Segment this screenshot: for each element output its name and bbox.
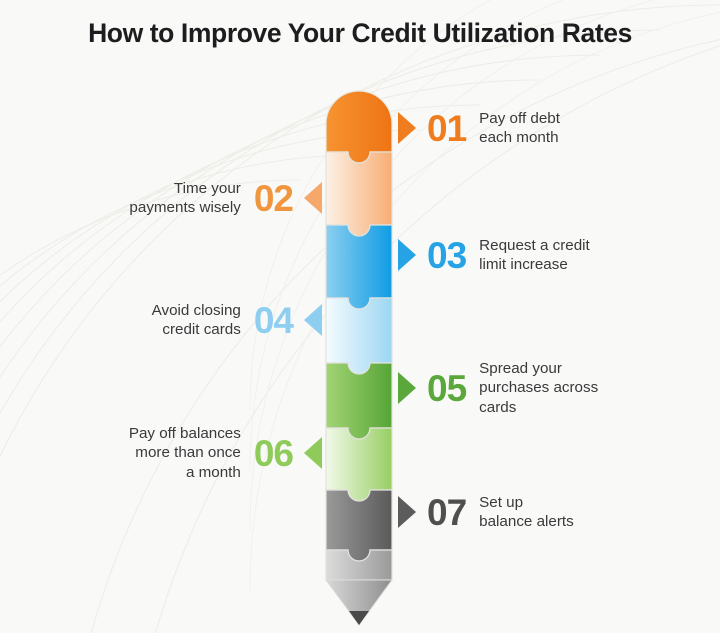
step-text-05: Spread your purchases across cards [479, 359, 598, 417]
arrow-right-icon [396, 108, 418, 148]
step-number-05: 05 [427, 370, 466, 407]
pencil-tip [326, 580, 392, 625]
page-title: How to Improve Your Credit Utilization R… [0, 18, 720, 49]
step-row-05: 05 Spread your purchases across cards [396, 359, 598, 417]
pencil-column [322, 88, 396, 628]
step-row-07: 07 Set up balance alerts [396, 492, 574, 532]
arrow-left-icon [302, 433, 324, 473]
step-text-07: Set up balance alerts [479, 493, 574, 532]
step-number-01: 01 [427, 110, 466, 147]
arrow-left-icon [302, 300, 324, 340]
step-row-01: 01 Pay off debt each month [396, 108, 560, 148]
step-number-03: 03 [427, 237, 466, 274]
step-number-02: 02 [254, 180, 293, 217]
pencil-segment-02 [326, 152, 392, 236]
step-number-06: 06 [254, 435, 293, 472]
step-row-02: 02 Time your payments wisely [129, 178, 324, 218]
step-text-06: Pay off balances more than once a month [129, 424, 241, 482]
step-text-03: Request a credit limit increase [479, 236, 590, 275]
step-row-03: 03 Request a credit limit increase [396, 235, 590, 275]
arrow-left-icon [302, 178, 324, 218]
step-text-01: Pay off debt each month [479, 109, 560, 148]
step-row-06: 06 Pay off balances more than once a mon… [129, 424, 324, 482]
step-number-07: 07 [427, 494, 466, 531]
step-row-04: 04 Avoid closing credit cards [152, 300, 324, 340]
arrow-right-icon [396, 235, 418, 275]
step-text-04: Avoid closing credit cards [152, 301, 241, 340]
step-text-02: Time your payments wisely [129, 179, 240, 218]
pencil-segment-03 [326, 225, 392, 309]
arrow-right-icon [396, 368, 418, 408]
arrow-right-icon [396, 492, 418, 532]
step-number-04: 04 [254, 302, 293, 339]
